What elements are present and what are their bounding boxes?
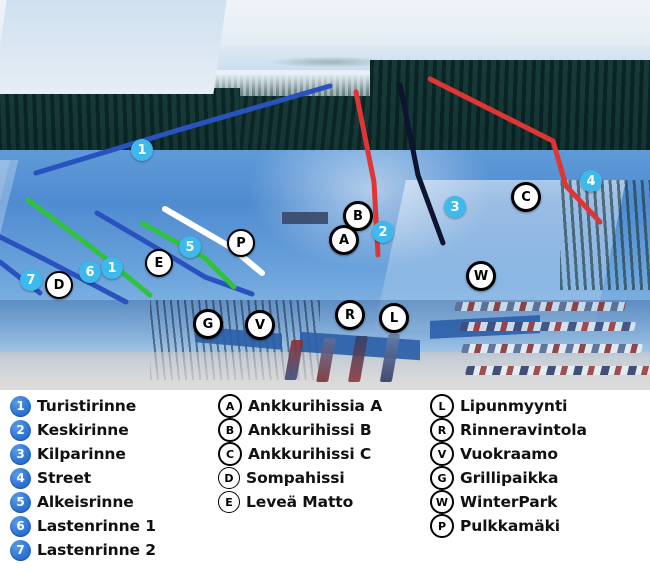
legend-column-slopes: 1Turistirinne2Keskirinne3Kilparinne4Stre… [10, 394, 156, 562]
legend-badge-w: W [430, 490, 454, 514]
map-marker-6[interactable]: 6 [79, 261, 101, 283]
ski-resort-trail-map: 11234567ABCDEGVRLWP 1Turistirinne2Keskir… [0, 0, 650, 570]
map-marker-b[interactable]: B [343, 201, 373, 231]
legend-badge-2: 2 [10, 420, 31, 441]
legend-item-label: Alkeisrinne [37, 493, 134, 511]
legend-item-label: Street [37, 469, 91, 487]
legend-badge-l: L [430, 394, 454, 418]
legend-badge-e: E [218, 491, 240, 513]
legend-badge-5: 5 [10, 492, 31, 513]
legend-item-label: Keskirinne [37, 421, 129, 439]
legend-badge-a: A [218, 394, 242, 418]
legend-item[interactable]: CAnkkurihissi C [218, 442, 382, 466]
legend-item-label: Vuokraamo [460, 445, 558, 463]
legend-badge-p: P [430, 514, 454, 538]
legend-badge-6: 6 [10, 516, 31, 537]
legend-item-label: Lastenrinne 2 [37, 541, 156, 559]
legend-item[interactable]: ELeveä Matto [218, 490, 382, 514]
legend-item-label: Lipunmyynti [460, 397, 567, 415]
legend-badge-3: 3 [10, 444, 31, 465]
legend-item-label: Grillipaikka [460, 469, 558, 487]
legend-item[interactable]: WWinterPark [430, 490, 587, 514]
legend-item-label: Sompahissi [246, 469, 345, 487]
legend-column-services: LLipunmyyntiRRinneravintolaVVuokraamoGGr… [430, 394, 587, 538]
map-marker-v[interactable]: V [245, 310, 275, 340]
legend-item[interactable]: 3Kilparinne [10, 442, 156, 466]
legend-item-label: Ankkurihissia A [248, 397, 382, 415]
map-marker-e[interactable]: E [145, 249, 173, 277]
legend-item-label: Pulkkamäki [460, 517, 560, 535]
map-marker-5[interactable]: 5 [179, 236, 201, 258]
map-marker-c[interactable]: C [511, 182, 541, 212]
legend-item[interactable]: DSompahissi [218, 466, 382, 490]
trail-overlay [0, 0, 650, 390]
legend-column-lifts: AAnkkurihissia ABAnkkurihissi BCAnkkurih… [218, 394, 382, 514]
map-marker-g[interactable]: G [193, 309, 223, 339]
legend-item[interactable]: 6Lastenrinne 1 [10, 514, 156, 538]
map-marker-2[interactable]: 2 [372, 221, 394, 243]
legend-item-label: Ankkurihissi B [248, 421, 372, 439]
aerial-map-photo[interactable]: 11234567ABCDEGVRLWP [0, 0, 650, 390]
map-marker-l[interactable]: L [379, 303, 409, 333]
legend-badge-g: G [430, 466, 454, 490]
legend-item[interactable]: LLipunmyynti [430, 394, 587, 418]
legend-item[interactable]: 1Turistirinne [10, 394, 156, 418]
map-marker-4[interactable]: 4 [580, 170, 602, 192]
legend-item[interactable]: 2Keskirinne [10, 418, 156, 442]
legend-badge-r: R [430, 418, 454, 442]
map-marker-7[interactable]: 7 [20, 269, 42, 291]
legend-badge-c: C [218, 442, 242, 466]
legend-item[interactable]: VVuokraamo [430, 442, 587, 466]
legend-item-label: Rinneravintola [460, 421, 587, 439]
legend-badge-b: B [218, 418, 242, 442]
map-marker-p[interactable]: P [227, 229, 255, 257]
legend-item-label: Lastenrinne 1 [37, 517, 156, 535]
legend-item-label: Kilparinne [37, 445, 126, 463]
legend-badge-v: V [430, 442, 454, 466]
legend-item[interactable]: RRinneravintola [430, 418, 587, 442]
map-marker-1[interactable]: 1 [101, 257, 123, 279]
legend-badge-7: 7 [10, 540, 31, 561]
trail-boundary-upper [36, 86, 330, 173]
legend-panel: 1Turistirinne2Keskirinne3Kilparinne4Stre… [0, 390, 650, 570]
legend-item-label: WinterPark [460, 493, 557, 511]
legend-item[interactable]: 7Lastenrinne 2 [10, 538, 156, 562]
legend-item[interactable]: BAnkkurihissi B [218, 418, 382, 442]
map-marker-d[interactable]: D [45, 271, 73, 299]
legend-item[interactable]: 5Alkeisrinne [10, 490, 156, 514]
legend-badge-4: 4 [10, 468, 31, 489]
legend-item[interactable]: PPulkkamäki [430, 514, 587, 538]
legend-item-label: Ankkurihissi C [248, 445, 371, 463]
legend-item-label: Turistirinne [37, 397, 136, 415]
legend-item[interactable]: 4Street [10, 466, 156, 490]
map-marker-1[interactable]: 1 [131, 139, 153, 161]
legend-badge-1: 1 [10, 396, 31, 417]
legend-item-label: Leveä Matto [246, 493, 353, 511]
legend-badge-d: D [218, 467, 240, 489]
trail-2-black [400, 85, 443, 243]
legend-item[interactable]: GGrillipaikka [430, 466, 587, 490]
map-marker-3[interactable]: 3 [444, 196, 466, 218]
map-marker-r[interactable]: R [335, 300, 365, 330]
legend-item[interactable]: AAnkkurihissia A [218, 394, 382, 418]
map-marker-w[interactable]: W [466, 261, 496, 291]
